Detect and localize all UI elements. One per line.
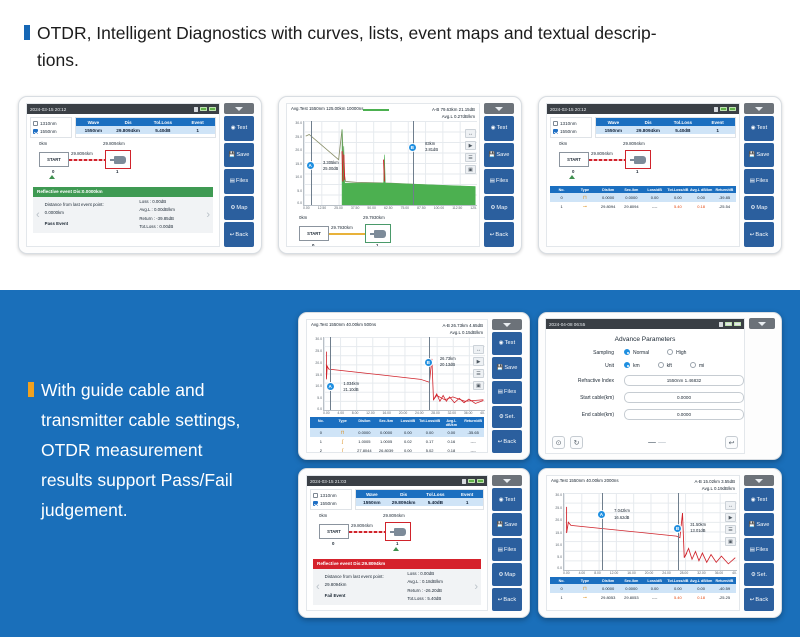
status-bar: 2024-04-08 06:55 — [546, 319, 744, 329]
table-row[interactable]: 2 ∫ 27.8044 26.8039 0.00 5.02 0.18 ---- — [310, 446, 484, 453]
button-set[interactable]: ⚙Set. — [492, 406, 522, 429]
button-test[interactable]: ◉Test — [744, 116, 774, 141]
prev-event-arrow-icon[interactable]: ‹ — [35, 209, 41, 221]
blue-copy-line-3: OTDR measurement — [41, 435, 288, 465]
battery-icon-2 — [477, 479, 484, 483]
save-icon: 💾 — [497, 522, 504, 528]
event-table: No. Type Dis/km Sec./km Loss/dB Tot.Loss… — [310, 417, 484, 453]
map-gear-icon: ⚙ — [490, 205, 495, 211]
side-bar-handle[interactable] — [224, 103, 254, 114]
button-files[interactable]: ▤Files — [492, 538, 522, 561]
checkbox-checked-icon — [33, 129, 38, 134]
side-bar-handle[interactable] — [749, 318, 775, 329]
link-map: 0km 29.8094km 29.8094km START 0 1 — [555, 140, 733, 184]
map-start-box[interactable]: START — [299, 226, 329, 241]
button-files[interactable]: ▤Files — [224, 169, 254, 194]
cursor-a-line[interactable] — [330, 337, 331, 410]
status-icons — [194, 107, 216, 112]
map-connector-node[interactable] — [385, 522, 411, 541]
radio-unit-kft[interactable]: kft — [658, 362, 672, 369]
save-icon: 💾 — [497, 365, 504, 371]
button-files[interactable]: ▤Files — [744, 169, 774, 194]
map-gear-icon: ⚙ — [750, 205, 755, 211]
table-row[interactable]: 0 ⊓ 0.0000 0.0000 0.00 0.00 0.00 -40.59 — [550, 584, 736, 593]
marker-b-label: 31.50km 13.01dB — [690, 522, 706, 534]
side-bar-handle[interactable] — [484, 103, 514, 114]
battery-icon-2 — [734, 322, 741, 326]
blue-copy: With guide cable and transmitter cable s… — [28, 375, 288, 525]
fiber-segment — [69, 159, 105, 161]
files-icon: ▤ — [750, 547, 755, 553]
page-title: Advance Parameters — [546, 336, 744, 343]
table-row[interactable]: 1 ⊸ 29.8094 29.8094 ---- 5.40 0.18 -25.5… — [550, 202, 736, 211]
map-connector-node[interactable] — [625, 150, 651, 169]
cell-tolloss: 5.40dB — [146, 126, 181, 134]
event-avgl: Avg.L : 0.18dB/km — [407, 578, 469, 586]
blue-section: With guide cable and transmitter cable s… — [0, 290, 800, 637]
event-detail-panel: ‹ Distance from last event point: 29.809… — [313, 569, 481, 605]
radio-sampling-normal[interactable]: Normal — [624, 349, 649, 356]
chart-plot-area: 30.0 25.0 20.0 15.0 10.0 5.0 0.0 A — [549, 493, 737, 571]
list-icon[interactable]: ☰ — [465, 153, 476, 162]
marker-a-label: 7.042km 16.62dB — [614, 508, 630, 520]
connector-icon — [370, 230, 386, 238]
chart-title: Avg.Test 1550nm 125.00km 10000ns — [291, 106, 363, 111]
accent-bar-orange — [28, 382, 34, 397]
map-node-index-right: 1 — [396, 541, 398, 546]
chart-tool-column: ↔ ▶ ☰ ▣ — [725, 501, 736, 546]
map-start-label: 0km — [559, 141, 567, 146]
chart-title: Avg.Test 1550nm 40.00km 500ns — [311, 322, 376, 327]
status-bar: 2024-03-15 21:03 — [307, 476, 487, 486]
back-icon: ↩ — [498, 597, 503, 603]
marker-b[interactable]: B — [408, 143, 417, 152]
x-axis: 0.00 4.00 8.00 12.00 16.00 20.00 24.00 2… — [323, 411, 485, 415]
marker-a[interactable]: A — [326, 382, 335, 391]
link-map: 0km 29.7930km 29.7930km START 0 1 — [295, 214, 473, 247]
back-icon: ↩ — [490, 232, 495, 238]
map-end-label: 29.8094km — [623, 141, 645, 146]
cell-wave: 1550nm — [356, 498, 388, 506]
button-back[interactable]: ↩Back — [224, 222, 254, 247]
label-end-cable: End cable(km) — [546, 412, 624, 418]
wave-table: Wave Dis Tol.Loss Event 1550nm 29.8094km… — [75, 117, 216, 138]
side-button-bar: ◉Test 💾Save ▤Files ⚙Map ↩Back — [744, 103, 774, 247]
label-sampling: Sampling — [546, 350, 624, 356]
device-3-screen: 2024-03-15 20:12 1310nm 1550nm — [546, 103, 740, 247]
fiber-segment — [589, 159, 625, 161]
status-bar: 2024-03-15 20:12 — [547, 104, 739, 114]
button-test[interactable]: ◉Test — [224, 116, 254, 141]
radio-unit-km[interactable]: km — [624, 362, 640, 369]
chart-summary-avgl: Avg.L 0.19dB/km — [694, 485, 735, 492]
marker-a-label: 1.034km 21.10dB — [343, 381, 359, 393]
map-node-index-right: 1 — [376, 243, 378, 247]
top-headline: OTDR, Intelligent Diagnostics with curve… — [24, 20, 774, 74]
button-back[interactable]: ↩Back — [492, 588, 522, 611]
zoom-fit-icon[interactable]: ↔ — [465, 129, 476, 138]
usb-icon — [462, 479, 466, 484]
event-loss: Loss : 0.00dB — [407, 570, 469, 578]
status-time: 2024-03-15 20:12 — [550, 107, 586, 112]
col-tolloss: Tol.Loss — [146, 118, 181, 126]
checkbox-1310nm[interactable]: 1310nm — [553, 121, 589, 126]
connector-icon — [630, 156, 646, 164]
test-icon: ◉ — [499, 340, 504, 346]
button-back[interactable]: ↩Back — [484, 222, 514, 247]
button-set[interactable]: ⚙Set. — [744, 563, 774, 586]
marker-triangle-icon — [49, 175, 55, 179]
wavelength-checkboxes: 1310nm 1550nm — [550, 117, 592, 138]
wavelength-checkboxes: 1310nm 1550nm — [310, 489, 352, 510]
device-6: 2024-03-15 21:03 1310nm 1550nm — [298, 468, 530, 618]
side-bar-handle[interactable] — [744, 103, 774, 114]
map-gear-icon: ⚙ — [498, 572, 503, 578]
table-row[interactable]: 1550nm 29.8094km 5.40dB 1 — [76, 126, 215, 134]
refresh-icon[interactable]: ↻ — [570, 436, 583, 449]
button-back[interactable]: ↩Back — [744, 588, 774, 611]
wave-panel: 1310nm 1550nm Wave Dis Tol.Loss Event — [307, 486, 487, 510]
event-banner: Reflective event Dis:0.0000km — [33, 187, 213, 197]
checkbox-1310nm[interactable]: 1310nm — [313, 493, 349, 498]
chart-header: Avg.Test 1550nm 125.00km 10000ns A-B 79.… — [287, 104, 479, 120]
play-icon[interactable]: ▶ — [473, 357, 484, 366]
status-time: 2024-04-08 06:55 — [549, 322, 585, 327]
snapshot-icon[interactable]: ▣ — [473, 381, 484, 390]
event-detail-right: Loss : 0.00dB Avg.L : 0.00dB/km Return :… — [139, 198, 201, 231]
event-detail-panel: ‹ Distance from last event point: 0.0000… — [33, 197, 213, 233]
event-table-header: No. Type Dis/km Sec./km Loss/dB Tot.Loss… — [550, 577, 736, 584]
button-save[interactable]: 💾Save — [484, 143, 514, 168]
wavelength-checkboxes: 1310nm 1550nm — [30, 117, 72, 138]
col-dis: Dis — [111, 118, 146, 126]
table-row[interactable]: 1550nm 29.8094km 5.40dB 1 — [356, 498, 483, 506]
device-7-screen: Avg.Test 1550nm 40.00km 2000ns A-B 15.02… — [546, 475, 740, 611]
col-event: Event — [700, 118, 735, 126]
button-files[interactable]: ▤Files — [492, 381, 522, 404]
col-wave: Wave — [76, 118, 111, 126]
accent-bar-blue — [24, 25, 30, 40]
chart-summary: A-B 79.63km 21.15dB Avg.L 0.27dB/km — [432, 106, 475, 120]
usb-icon — [714, 107, 718, 112]
button-files[interactable]: ▤Files — [484, 169, 514, 194]
list-icon[interactable]: ☰ — [473, 369, 484, 378]
blue-copy-line-1: With guide cable and — [28, 375, 288, 405]
page-dots — [588, 442, 725, 443]
marker-triangle-icon — [569, 175, 575, 179]
play-icon[interactable]: ▶ — [465, 141, 476, 150]
button-save[interactable]: 💾Save — [492, 513, 522, 536]
map-node-index-left: 0 — [312, 243, 314, 247]
row-start-cable: Start cable(km) 0.0000 — [546, 392, 744, 403]
radio-off-icon — [667, 349, 673, 355]
refractive-index-field[interactable]: 1550nm 1.46832 — [624, 375, 744, 386]
side-button-bar: ◉Test 💾Save ▤Files ⚙Map ↩Back — [492, 475, 522, 611]
side-bar-handle[interactable] — [744, 475, 774, 486]
checkbox-box-icon — [553, 121, 558, 126]
event-distance-title: Distance from last event point: — [325, 573, 404, 581]
radio-on-icon — [624, 349, 630, 355]
x-axis: 0.00 4.00 8.00 12.00 16.00 20.00 24.00 2… — [563, 571, 737, 575]
map-end-label: 29.8094km — [383, 513, 405, 518]
connector-icon — [390, 528, 406, 536]
power-icon[interactable]: ⊙ — [552, 436, 565, 449]
side-button-bar: ◉Test 💾Save ▤Files ⚙Set. ↩Back — [744, 475, 774, 611]
checkbox-checked-icon — [313, 501, 318, 506]
event-totloss: Tot.Loss : 5.40dB — [407, 595, 469, 603]
col-dis: Dis — [631, 118, 666, 126]
event-totloss: Tot.Loss : 0.00dB — [139, 223, 201, 231]
zoom-fit-icon[interactable]: ↔ — [725, 501, 736, 510]
footer-bar: ⊙ ↻ ↩ — [546, 436, 744, 449]
test-icon: ◉ — [231, 125, 236, 131]
wave-table-header: Wave Dis Tol.Loss Event — [76, 118, 215, 126]
map-start-label: 0km — [319, 513, 327, 518]
table-row[interactable]: 0 ⊓ 0.0000 0.0000 0.00 0.00 0.00 -39.85 — [550, 193, 736, 202]
map-node-index-right: 1 — [116, 169, 118, 174]
button-save[interactable]: 💾Save — [744, 513, 774, 536]
chart-trace — [324, 337, 485, 410]
table-row[interactable]: 1550nm 29.8094km 5.40dB 1 — [596, 126, 735, 134]
side-button-bar: ◉Test 💾Save ▤Files ⚙Set. ↩Back — [492, 319, 522, 453]
wave-panel: 1310nm 1550nm Wave Dis Tol.Loss Event — [27, 114, 219, 138]
start-cable-field[interactable]: 0.0000 — [624, 392, 744, 403]
device-7: Avg.Test 1550nm 40.00km 2000ns A-B 15.02… — [538, 468, 782, 618]
cell-dis: 29.8094km — [388, 498, 420, 506]
button-test[interactable]: ◉Test — [744, 488, 774, 511]
event-detail-right: Loss : 0.00dB Avg.L : 0.18dB/km Return :… — [407, 570, 469, 603]
map-start-box[interactable]: START — [39, 152, 69, 167]
button-map[interactable]: ⚙Map — [224, 196, 254, 221]
button-test[interactable]: ◉Test — [492, 488, 522, 511]
chart-summary: A-B 26.73km 4.65dB Avg.L 0.15dB/km — [442, 322, 483, 336]
marker-b-label: 26.73km 20.13dB — [440, 356, 456, 368]
chart-header: Avg.Test 1550nm 40.00km 500ns A-B 26.73k… — [307, 320, 487, 336]
button-files[interactable]: ▤Files — [744, 538, 774, 561]
usb-icon — [194, 107, 198, 112]
button-save[interactable]: 💾Save — [492, 357, 522, 380]
checkbox-checked-icon — [553, 129, 558, 134]
event-table-header: No. Type Dis/km Sec./km Loss/dB Tot.Loss… — [550, 186, 736, 193]
cell-tolloss: 5.40dB — [420, 498, 452, 506]
cell-dis: 29.8094km — [111, 126, 146, 134]
wave-table: Wave Dis Tol.Loss Event 1550nm 29.8094km… — [595, 117, 736, 138]
top-section: OTDR, Intelligent Diagnostics with curve… — [0, 0, 800, 285]
event-detail-left: Distance from last event point: 29.8094k… — [325, 573, 404, 601]
event-return: Return : -26.20dB — [407, 587, 469, 595]
table-row[interactable]: 0 ⊓ 0.0000 0.0000 0.00 0.00 0.00 -35.65 — [310, 428, 484, 437]
checkbox-label: 1310nm — [320, 493, 337, 498]
checkbox-label: 1310nm — [40, 121, 57, 126]
side-bar-handle[interactable] — [492, 319, 522, 330]
button-back[interactable]: ↩Back — [744, 222, 774, 247]
device-4: Avg.Test 1550nm 40.00km 500ns A-B 26.73k… — [298, 312, 530, 460]
back-icon[interactable]: ↩ — [725, 436, 738, 449]
checkbox-label: 1550nm — [560, 129, 577, 134]
snapshot-icon[interactable]: ▣ — [725, 537, 736, 546]
cell-event: 1 — [180, 126, 215, 134]
table-row[interactable]: 1 ∫ 1.0005 1.0005 0.02 0.17 0.16 ---- — [310, 437, 484, 446]
next-event-arrow-icon[interactable]: › — [473, 581, 479, 593]
col-wave: Wave — [596, 118, 631, 126]
col-tolloss: Tol.Loss — [666, 118, 701, 126]
radio-unit-mi[interactable]: mi — [690, 362, 704, 369]
button-test[interactable]: ◉Test — [484, 116, 514, 141]
cell-event: 1 — [700, 126, 735, 134]
checkbox-1550nm[interactable]: 1550nm — [553, 129, 589, 134]
status-bar: 2024-03-15 20:12 — [27, 104, 219, 114]
checkbox-box-icon — [33, 121, 38, 126]
cell-event: 1 — [451, 498, 483, 506]
event-table-header: No. Type Dis/km Sec./km Loss/dB Tot.Loss… — [310, 417, 484, 428]
col-dis: Dis — [388, 490, 420, 498]
chart-summary-ab: A-B 15.02km 3.55dB — [694, 478, 735, 485]
cursor-b-line[interactable] — [413, 121, 414, 205]
status-icons — [462, 479, 484, 484]
save-icon: 💾 — [749, 522, 756, 528]
usb-icon — [719, 322, 723, 327]
button-map[interactable]: ⚙Map — [492, 563, 522, 586]
map-start-box[interactable]: START — [559, 152, 589, 167]
chart-canvas[interactable]: A 7.042km 16.62dB B 31.50km 13.01dB ↔ ▶ … — [563, 493, 737, 571]
device-2: Avg.Test 1550nm 125.00km 10000ns A-B 79.… — [278, 96, 522, 254]
device-5-screen: 2024-04-08 06:55 Advance Parameters Samp… — [545, 318, 745, 454]
status-icons — [719, 322, 741, 327]
checkbox-label: 1550nm — [320, 501, 337, 506]
marker-b[interactable]: B — [673, 524, 682, 533]
label-refractive-index: Refractive Index — [546, 378, 624, 384]
button-map[interactable]: ⚙Map — [744, 196, 774, 221]
next-event-arrow-icon[interactable]: › — [205, 209, 211, 221]
map-span-label: 29.7930km — [331, 225, 353, 230]
button-back[interactable]: ↩Back — [492, 430, 522, 453]
col-tolloss: Tol.Loss — [420, 490, 452, 498]
cell-wave: 1550nm — [596, 126, 631, 134]
back-icon: ↩ — [230, 232, 235, 238]
event-type-icon: ⊸ — [573, 202, 596, 211]
event-type-icon: ∫ — [332, 437, 354, 446]
wave-table-header: Wave Dis Tol.Loss Event — [596, 118, 735, 126]
chart-plot-area: 30.0 25.0 20.0 15.0 10.0 5.0 0.0 A — [309, 337, 485, 411]
chart-summary: A-B 15.02km 3.55dB Avg.L 0.19dB/km — [694, 478, 735, 492]
battery-icon — [200, 107, 207, 111]
event-table: No. Type Dis/km Sec./km Loss/dB Tot.Loss… — [550, 577, 736, 602]
checkbox-1550nm[interactable]: 1550nm — [33, 129, 69, 134]
button-map[interactable]: ⚙Map — [484, 196, 514, 221]
headline-line-2: tions. — [37, 47, 774, 74]
row-refractive-index: Refractive Index 1550nm 1.46832 — [546, 375, 744, 386]
checkbox-box-icon — [313, 493, 318, 498]
col-event: Event — [180, 118, 215, 126]
status-time: 2024-03-15 20:12 — [30, 107, 66, 112]
connector-icon — [110, 156, 126, 164]
event-type-icon: ∫ — [332, 446, 354, 453]
button-save[interactable]: 💾Save — [744, 143, 774, 168]
checkbox-1310nm[interactable]: 1310nm — [33, 121, 69, 126]
chart-header: Avg.Test 1550nm 40.00km 2000ns A-B 15.02… — [547, 476, 739, 492]
headline-line-1: OTDR, Intelligent Diagnostics with curve… — [37, 23, 657, 43]
fiber-segment — [329, 233, 365, 235]
radio-sampling-high[interactable]: High — [667, 349, 686, 356]
chart-canvas[interactable]: A 3.305km 25.00dB B 83km 3.81dB ↔ ▶ ☰ ▣ — [303, 121, 477, 206]
list-icon[interactable]: ☰ — [725, 525, 736, 534]
row-unit: Unit km kft mi — [546, 362, 744, 369]
button-save[interactable]: 💾Save — [224, 143, 254, 168]
battery-icon — [725, 322, 732, 326]
label-unit: Unit — [546, 363, 624, 369]
map-end-label: 29.7930km — [363, 215, 385, 220]
prev-event-arrow-icon[interactable]: ‹ — [315, 581, 321, 593]
zoom-fit-icon[interactable]: ↔ — [473, 345, 484, 354]
button-test[interactable]: ◉Test — [492, 332, 522, 355]
chart-summary-ab: A-B 26.73km 4.65dB — [442, 322, 483, 329]
chart-canvas[interactable]: A 1.034km 21.10dB B 26.73km 20.13dB ↔ ▶ … — [323, 337, 485, 411]
marker-b-label: 83km 3.81dB — [425, 141, 438, 153]
test-icon: ◉ — [491, 125, 496, 131]
marker-a[interactable]: A — [597, 510, 606, 519]
map-end-label: 29.8094km — [103, 141, 125, 146]
map-connector-node[interactable] — [365, 224, 391, 243]
battery-icon-2 — [729, 107, 736, 111]
device-1-screen: 2024-03-15 20:12 1310nm 1550nm — [26, 103, 220, 247]
cell-tolloss: 5.40dB — [666, 126, 701, 134]
status-icons — [714, 107, 736, 112]
marker-triangle-icon — [393, 547, 399, 551]
save-icon: 💾 — [489, 152, 496, 158]
snapshot-icon[interactable]: ▣ — [465, 165, 476, 174]
end-cable-field[interactable]: 0.0000 — [624, 409, 744, 420]
event-status: Fail Event — [325, 593, 346, 598]
event-return: Return : -39.85dB — [139, 215, 201, 223]
settings-gear-icon: ⚙ — [751, 572, 756, 578]
event-distance-value: 0.0000km — [45, 209, 136, 217]
chart-tool-column: ↔ ▶ ☰ ▣ — [473, 345, 484, 390]
blue-copy-line-4: results support Pass/Fail — [41, 465, 288, 495]
cell-wave: 1550nm — [76, 126, 111, 134]
files-icon: ▤ — [750, 178, 755, 184]
device-5: 2024-04-08 06:55 Advance Parameters Samp… — [538, 312, 782, 460]
blue-copy-line-5: judgement. — [41, 495, 288, 525]
chart-plot-area: 30.0 25.0 20.0 15.0 10.0 5.0 0.0 — [289, 121, 477, 206]
back-icon: ↩ — [750, 232, 755, 238]
y-axis: 30.0 25.0 20.0 15.0 10.0 5.0 0.0 — [289, 121, 303, 206]
side-button-bar — [749, 318, 775, 454]
event-status: Pass Event — [45, 221, 68, 226]
save-icon: 💾 — [749, 152, 756, 158]
legend-line-icon — [363, 109, 389, 111]
device-3: 2024-03-15 20:12 1310nm 1550nm — [538, 96, 782, 254]
marker-a-label: 3.305km 25.00dB — [323, 160, 339, 172]
checkbox-1550nm[interactable]: 1550nm — [313, 501, 349, 506]
map-start-box[interactable]: START — [319, 524, 349, 539]
cursor-a-line[interactable] — [602, 493, 603, 570]
play-icon[interactable]: ▶ — [725, 513, 736, 522]
label-start-cable: Start cable(km) — [546, 395, 624, 401]
table-row[interactable]: 1 ⊸ 29.8053 29.8053 ---- 5.40 0.18 -25.2… — [550, 593, 736, 602]
marker-b[interactable]: B — [424, 358, 433, 367]
map-node-index-left: 0 — [332, 541, 334, 546]
map-span-label: 29.8094km — [591, 151, 613, 156]
chart-title: Avg.Test 1550nm 40.00km 2000ns — [551, 478, 619, 483]
wave-table: Wave Dis Tol.Loss Event 1550nm 29.8094km… — [355, 489, 484, 510]
map-connector-node[interactable] — [105, 150, 131, 169]
link-map: 0km 29.8094km 29.8094km START 0 1 — [315, 512, 481, 556]
side-bar-handle[interactable] — [492, 475, 522, 486]
files-icon: ▤ — [230, 178, 235, 184]
chart-tool-column: ↔ ▶ ☰ ▣ — [465, 129, 476, 174]
cursor-b-line[interactable] — [429, 337, 430, 410]
battery-icon — [468, 479, 475, 483]
